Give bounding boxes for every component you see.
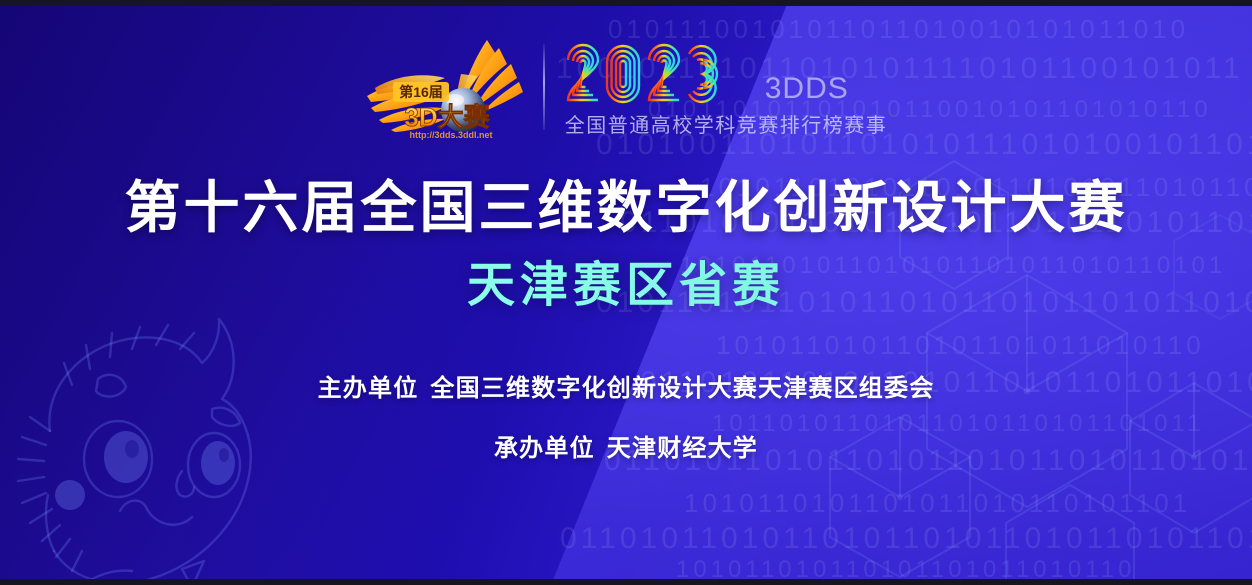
winged-3d-competition-emblem-icon: 第16届 3D大赛 http://3dds.3ddl.net	[365, 38, 529, 142]
lockup-text-block: 2023 3DDS 全国普通高校学科竞赛排行榜赛事	[565, 38, 888, 138]
top-border-strip	[0, 0, 1252, 6]
bottom-border-strip	[0, 579, 1252, 585]
page-title-sub-region: 天津赛区省赛	[0, 258, 1252, 313]
credit-host-label: 主办单位	[318, 375, 419, 402]
credit-organizer-value: 天津财经大学	[607, 435, 758, 462]
header-logo-lockup: 第16届 3D大赛 http://3dds.3ddl.net	[0, 38, 1252, 142]
credit-organizer-label: 承办单位	[494, 435, 595, 462]
emblem-url-text: http://3dds.3ddl.net	[409, 130, 492, 140]
page-title-main: 第十六届全国三维数字化创新设计大赛	[0, 176, 1252, 240]
event-tagline: 全国普通高校学科竞赛排行榜赛事	[565, 114, 888, 138]
emblem-edition-badge-text: 第16届	[399, 84, 443, 100]
event-banner: 0101110010101101101001010101101010010110…	[0, 0, 1252, 585]
year-2023-graphic: 2023	[565, 40, 753, 112]
brand-acronym-3dds: 3DDS	[765, 74, 849, 112]
emblem-wordmark-text: 3D大赛	[404, 102, 490, 132]
year-row: 2023 3DDS	[565, 40, 888, 112]
lockup-vertical-divider	[543, 44, 545, 130]
credit-line-host: 主办单位全国三维数字化创新设计大赛天津赛区组委会	[0, 368, 1252, 403]
credit-line-organizer: 承办单位天津财经大学	[0, 428, 1252, 463]
credit-host-value: 全国三维数字化创新设计大赛天津赛区组委会	[430, 375, 934, 402]
